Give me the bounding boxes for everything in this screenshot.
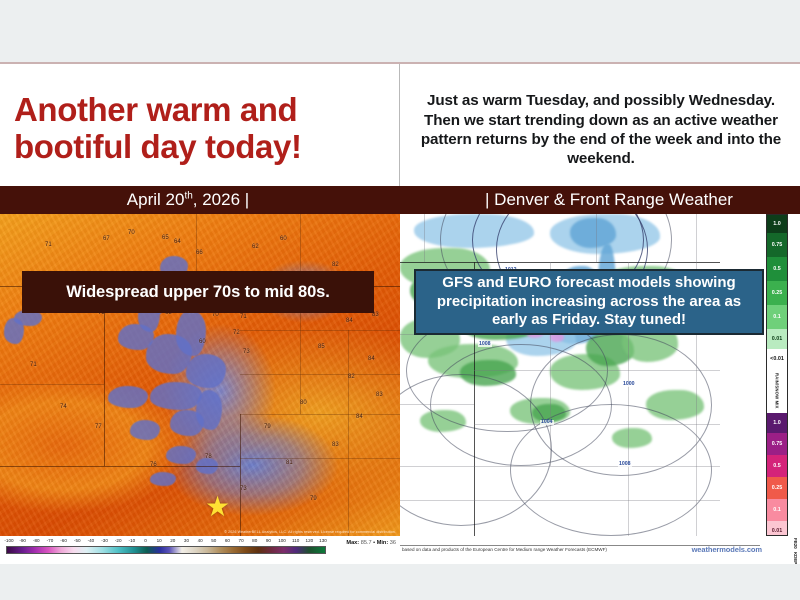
scale-tick: 90 [266, 538, 271, 543]
county-border [240, 458, 400, 459]
cool-patch [4, 318, 24, 344]
county-border [400, 404, 474, 405]
station-temperature: 73 [240, 486, 247, 492]
secondary-headline: Just as warm Tuesday, and possibly Wedne… [412, 91, 790, 169]
legend-value: 1.0 [767, 413, 787, 433]
cool-patch [130, 420, 160, 440]
station-temperature: 65 [162, 235, 169, 241]
scale-tick: -30 [101, 538, 108, 543]
station-temperature: 79 [264, 424, 271, 430]
station-temperature: 82 [348, 374, 355, 380]
state-border [400, 262, 720, 263]
station-temperature: 73 [243, 349, 250, 355]
isobar-label: 1008 [478, 342, 492, 347]
scale-tick: 20 [170, 538, 175, 543]
station-temperature: 84 [346, 318, 353, 324]
cool-patch [150, 382, 202, 410]
scale-tick: -100 [4, 538, 13, 543]
county-border [240, 414, 400, 415]
station-temperature: 85 [318, 344, 325, 350]
scale-tick-labels: -100-90-80-70-60-50-40-30-20-10010203040… [6, 538, 326, 546]
station-temperature: 82 [332, 262, 339, 268]
station-temperature: 83 [376, 392, 383, 398]
legend-value: 0.5 [767, 257, 787, 281]
cool-patch [196, 390, 222, 430]
county-border [424, 214, 425, 262]
scale-tick: 30 [184, 538, 189, 543]
maxmin-separator: • [373, 540, 375, 546]
station-temperature: 84 [368, 356, 375, 362]
legend-value: 0.25 [767, 281, 787, 305]
scale-tick: 10 [157, 538, 162, 543]
cool-patch [186, 354, 226, 388]
county-border [400, 500, 720, 501]
scale-tick: 0 [144, 538, 147, 543]
ecmwf-attribution-panel: based on data and products of the Europe… [400, 536, 800, 564]
legend-value: 0.5 [767, 455, 787, 477]
headline-right-panel: Just as warm Tuesday, and possibly Wedne… [400, 64, 800, 186]
maps-row: ★ © 2026 WeatherBELL Analytics, LLC. All… [0, 214, 800, 536]
county-border [596, 214, 597, 262]
county-border [240, 374, 400, 375]
max-value: 85.7 [361, 540, 372, 546]
isobar-label: 1008 [618, 462, 632, 467]
state-border [0, 466, 240, 467]
scale-tick: 70 [239, 538, 244, 543]
county-border [474, 370, 720, 371]
station-temperature: 71 [45, 242, 52, 248]
county-border [0, 384, 104, 385]
station-temperature: 80 [300, 400, 307, 406]
scale-tick: -80 [33, 538, 40, 543]
scale-tick: -50 [74, 538, 81, 543]
legend-value: 0.75 [767, 433, 787, 455]
state-border [240, 414, 241, 536]
scale-tick: 110 [292, 538, 299, 543]
station-temperature: 71 [240, 314, 247, 320]
station-temperature: 62 [252, 244, 259, 250]
station-temperature: 72 [233, 330, 240, 336]
right-caption-box: GFS and EURO forecast models showing pre… [414, 269, 764, 335]
ecmwf-note: based on data and products of the Europe… [402, 547, 607, 552]
scale-tick: 100 [278, 538, 286, 543]
county-border [474, 424, 720, 425]
station-temperature: 79 [310, 496, 317, 502]
min-value: 36 [390, 540, 396, 546]
legend-value: 0.01 [767, 329, 787, 349]
legend-mix-label: RAIN/SNOW MIX [775, 373, 780, 409]
left-caption-box: Widespread upper 70s to mid 80s. [22, 271, 374, 313]
station-temperature: 71 [30, 362, 37, 368]
county-border [300, 214, 301, 414]
station-temperature: 70 [128, 230, 135, 236]
min-label: Min: [377, 540, 389, 546]
cool-patch [150, 472, 176, 486]
legend-value: 0.1 [767, 499, 787, 521]
county-border [696, 214, 697, 536]
banner-date-text: April 20 [127, 190, 185, 209]
station-temperature: 60 [199, 339, 206, 345]
station-temperature: 84 [356, 414, 363, 420]
banner-location: | Denver & Front Range Weather [400, 190, 800, 210]
weather-graphic: Another warm and bootiful day today! Jus… [0, 62, 800, 534]
legend-value: 0.25 [767, 477, 787, 499]
scale-tick: -40 [88, 538, 95, 543]
precipitation-legend: 1.0 0.75 0.5 0.25 0.1 0.01 <0.01 RAIN/SN… [766, 214, 788, 536]
precipitation-map-panel[interactable]: 1.0 0.75 0.5 0.25 0.1 0.01 <0.01 RAIN/SN… [400, 214, 800, 536]
footer-row: -100-90-80-70-60-50-40-30-20-10010203040… [0, 536, 800, 564]
station-temperature: 67 [103, 236, 110, 242]
station-temperature: 66 [196, 250, 203, 256]
station-temperature: 83 [332, 442, 339, 448]
cool-patch [166, 446, 196, 464]
scale-tick: -20 [115, 538, 122, 543]
scale-tick: -70 [47, 538, 54, 543]
scale-tick: 80 [252, 538, 257, 543]
main-headline: Another warm and bootiful day today! [14, 92, 385, 166]
station-temperature: 64 [174, 239, 181, 245]
corner-tag-kdep: KDEP [793, 552, 798, 564]
temperature-color-scale: -100-90-80-70-60-50-40-30-20-10010203040… [6, 538, 326, 554]
station-temperature: 76 [150, 462, 157, 468]
scale-gradient-bar [6, 546, 326, 554]
scale-tick: -90 [19, 538, 26, 543]
corner-tag-fb20: FB20 [793, 538, 798, 549]
station-temperature: 77 [95, 424, 102, 430]
legend-value: 0.1 [767, 305, 787, 329]
legend-mix-divider: RAIN/SNOW MIX [767, 369, 787, 413]
title-banner: April 20th, 2026 | | Denver & Front Rang… [0, 186, 800, 214]
isobar-label: 1000 [622, 382, 636, 387]
max-min-readout: Max: 85.7 • Min: 36 [346, 540, 396, 546]
scale-tick: 120 [306, 538, 314, 543]
station-temperature: 78 [205, 454, 212, 460]
scale-tick: -10 [129, 538, 136, 543]
legend-value: 0.01 [767, 521, 787, 536]
county-border [400, 466, 720, 467]
temperature-scale-panel: -100-90-80-70-60-50-40-30-20-10010203040… [0, 536, 400, 564]
county-border [348, 330, 349, 536]
weatherbell-copyright: © 2026 WeatherBELL Analytics, LLC. All r… [224, 530, 396, 534]
scale-tick: 130 [319, 538, 327, 543]
weathermodels-brand[interactable]: weathermodels.com [692, 545, 762, 554]
station-temperature: 60 [280, 236, 287, 242]
model-corner-tags: FB20 KDEP [793, 538, 798, 562]
scale-tick: 50 [211, 538, 216, 543]
max-label: Max: [346, 540, 359, 546]
headline-row: Another warm and bootiful day today! Jus… [0, 64, 800, 186]
scale-tick: 60 [225, 538, 230, 543]
legend-value: 0.75 [767, 233, 787, 257]
legend-trace: <0.01 [767, 349, 787, 369]
cool-patch [176, 310, 206, 356]
county-border [240, 330, 400, 331]
banner-date: April 20th, 2026 | [0, 190, 400, 210]
banner-date-ordinal: th [184, 190, 192, 201]
temperature-map-panel[interactable]: ★ © 2026 WeatherBELL Analytics, LLC. All… [0, 214, 400, 536]
isobar-label: 1004 [540, 420, 554, 425]
scale-tick: 40 [198, 538, 203, 543]
cool-patch [108, 386, 148, 408]
banner-date-rest: , 2026 | [193, 190, 249, 209]
station-temperature: 74 [60, 404, 67, 410]
scale-tick: -60 [60, 538, 67, 543]
headline-left-panel: Another warm and bootiful day today! [0, 64, 400, 186]
station-temperature: 81 [286, 460, 293, 466]
legend-value: 1.0 [767, 215, 787, 233]
